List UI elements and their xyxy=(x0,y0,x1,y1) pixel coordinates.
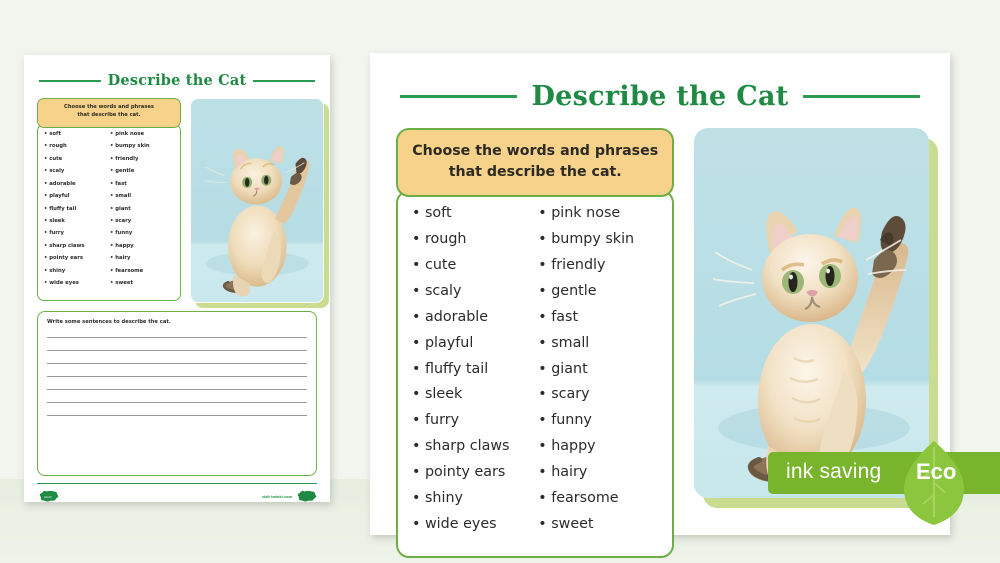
eco-badge-label: ink saving xyxy=(786,460,881,484)
main-title-rule-left xyxy=(400,95,517,98)
main-title-row: Describe the Cat xyxy=(400,81,920,112)
thumbnail-word-item[interactable]: fearsome xyxy=(110,269,176,274)
word-item[interactable]: scaly xyxy=(412,284,538,298)
word-item[interactable]: shiny xyxy=(412,491,538,505)
word-item[interactable]: adorable xyxy=(412,310,538,324)
main-title-rule-right xyxy=(803,95,920,98)
thumbnail-word-item[interactable]: pink nose xyxy=(110,132,176,137)
word-item[interactable]: friendly xyxy=(538,258,664,272)
thumbnail-word-item[interactable]: cute xyxy=(44,157,110,162)
worksheet-thumbnail-page[interactable]: Describe the Cat Choose the words and ph… xyxy=(24,55,330,502)
thumbnail-word-item[interactable]: sharp claws xyxy=(44,244,110,249)
thumbnail-page-title: Describe the Cat xyxy=(108,72,247,89)
word-item[interactable]: sharp claws xyxy=(412,439,538,453)
word-item[interactable]: sweet xyxy=(538,517,664,531)
main-word-section: Choose the words and phrases that descri… xyxy=(396,128,674,558)
word-item[interactable]: pink nose xyxy=(538,206,664,220)
word-item[interactable]: hairy xyxy=(538,465,664,479)
word-item[interactable]: fluffy tail xyxy=(412,362,538,376)
word-item[interactable]: happy xyxy=(538,439,664,453)
cat-photo xyxy=(694,128,929,498)
thumbnail-word-item[interactable]: wide eyes xyxy=(44,281,110,286)
thumbnail-instruction-box: Choose the words and phrases that descri… xyxy=(37,98,181,128)
ink-saving-eco-badge[interactable]: ink saving Eco xyxy=(768,452,1000,494)
writing-line[interactable] xyxy=(47,337,307,338)
thumbnail-word-item[interactable]: fluffy tail xyxy=(44,207,110,212)
thumbnail-word-item[interactable]: furry xyxy=(44,231,110,236)
word-list-box: softroughcutescalyadorableplayfulfluffy … xyxy=(396,190,674,558)
thumbnail-word-item[interactable]: adorable xyxy=(44,182,110,187)
word-column-left: softroughcutescalyadorableplayfulfluffy … xyxy=(412,206,538,543)
thumbnail-word-column-right: pink nosebumpy skinfriendlygentlefastsma… xyxy=(110,132,176,294)
writing-line[interactable] xyxy=(47,415,307,416)
word-item[interactable]: cute xyxy=(412,258,538,272)
thumbnail-word-item[interactable]: bumpy skin xyxy=(110,144,176,149)
thumbnail-word-list-box: softroughcutescalyadorableplayfulfluffy … xyxy=(37,124,181,301)
thumbnail-word-item[interactable]: playful xyxy=(44,194,110,199)
word-item[interactable]: furry xyxy=(412,413,538,427)
thumbnail-word-item[interactable]: happy xyxy=(110,244,176,249)
word-item[interactable]: fast xyxy=(538,310,664,324)
thumbnail-word-item[interactable]: shiny xyxy=(44,269,110,274)
thumbnail-cat-photo xyxy=(190,98,324,303)
writing-line[interactable] xyxy=(47,376,307,377)
cat-illustration xyxy=(191,99,323,302)
thumbnail-instruction-line-1: Choose the words and phrases xyxy=(43,104,175,112)
writing-line[interactable] xyxy=(47,389,307,390)
thumbnail-word-item[interactable]: soft xyxy=(44,132,110,137)
thumbnail-word-item[interactable]: hairy xyxy=(110,256,176,261)
thumbnail-word-item[interactable]: sleek xyxy=(44,219,110,224)
thumbnail-word-item[interactable]: friendly xyxy=(110,157,176,162)
word-item[interactable]: wide eyes xyxy=(412,517,538,531)
writing-line[interactable] xyxy=(47,363,307,364)
eco-badge-eco-label: Eco xyxy=(916,459,956,485)
thumbnail-word-item[interactable]: scary xyxy=(110,219,176,224)
thumbnail-word-column-left: softroughcutescalyadorableplayfulfluffy … xyxy=(44,132,110,294)
twinkl-logo-icon: twinkl xyxy=(37,491,59,502)
page-title: Describe the Cat xyxy=(531,81,788,112)
word-item[interactable]: small xyxy=(538,336,664,350)
photo-frame xyxy=(694,128,924,498)
word-item[interactable]: sleek xyxy=(412,387,538,401)
word-item[interactable]: bumpy skin xyxy=(538,232,664,246)
thumbnail-footer: twinkl visit twinkl.com xyxy=(37,483,317,505)
thumbnail-word-section: Choose the words and phrases that descri… xyxy=(37,98,181,301)
thumbnail-body: Choose the words and phrases that descri… xyxy=(37,98,317,303)
word-item[interactable]: pointy ears xyxy=(412,465,538,479)
thumbnail-word-item[interactable]: giant xyxy=(110,207,176,212)
thumbnail-photo-frame xyxy=(190,98,317,303)
word-item[interactable]: playful xyxy=(412,336,538,350)
thumbnail-word-item[interactable]: small xyxy=(110,194,176,199)
thumbnail-title-row: Describe the Cat xyxy=(39,72,315,89)
instruction-box: Choose the words and phrases that descri… xyxy=(396,128,674,197)
thumbnail-word-item[interactable]: sweet xyxy=(110,281,176,286)
word-item[interactable]: funny xyxy=(538,413,664,427)
word-item[interactable]: gentle xyxy=(538,284,664,298)
writing-line[interactable] xyxy=(47,402,307,403)
writing-line[interactable] xyxy=(47,350,307,351)
thumbnail-instruction-line-2: that describe the cat. xyxy=(43,112,175,120)
thumbnail-writing-prompt: Write some sentences to describe the cat… xyxy=(47,319,307,325)
svg-text:twinkl: twinkl xyxy=(44,495,52,499)
thumbnail-word-item[interactable]: pointy ears xyxy=(44,256,110,261)
title-rule-right xyxy=(253,80,315,82)
thumbnail-word-item[interactable]: scaly xyxy=(44,169,110,174)
thumbnail-writing-area[interactable]: Write some sentences to describe the cat… xyxy=(37,311,317,476)
thumbnail-word-item[interactable]: funny xyxy=(110,231,176,236)
instruction-line-1: Choose the words and phrases xyxy=(408,141,662,162)
footer-url: visit twinkl.com xyxy=(262,495,292,499)
word-item[interactable]: soft xyxy=(412,206,538,220)
word-column-right: pink nosebumpy skinfriendlygentlefastsma… xyxy=(538,206,664,543)
word-item[interactable]: giant xyxy=(538,362,664,376)
thumbnail-word-item[interactable]: gentle xyxy=(110,169,176,174)
word-item[interactable]: scary xyxy=(538,387,664,401)
word-item[interactable]: rough xyxy=(412,232,538,246)
thumbnail-writing-lines xyxy=(47,337,307,416)
thumbnail-word-item[interactable]: fast xyxy=(110,182,176,187)
title-rule-left xyxy=(39,80,101,82)
instruction-line-2: that describe the cat. xyxy=(408,162,662,183)
thumbnail-footer-right: visit twinkl.com xyxy=(262,491,317,502)
cat-illustration-large xyxy=(694,128,929,498)
word-item[interactable]: fearsome xyxy=(538,491,664,505)
twinkl-logo-icon-secondary xyxy=(295,491,317,502)
thumbnail-word-item[interactable]: rough xyxy=(44,144,110,149)
